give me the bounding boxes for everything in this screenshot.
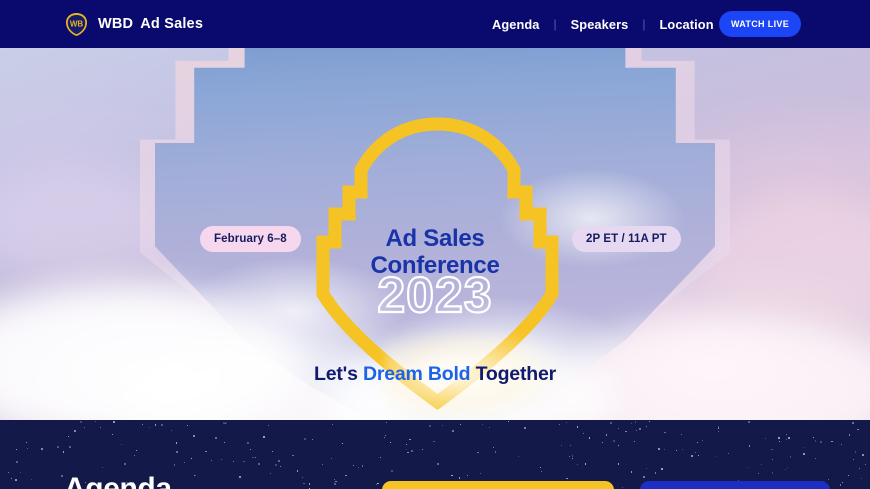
brand-name-wbd: WBD (98, 16, 133, 32)
main-navigation: Agenda | Speakers | Location (478, 0, 728, 48)
hero-tagline: Let's Dream Bold Together (0, 363, 870, 386)
wb-shield-logo-icon: WB (64, 12, 89, 37)
agenda-heading: Agenda (64, 474, 172, 489)
nav-item-agenda[interactable]: Agenda (478, 17, 554, 32)
watch-live-light: LIVE (768, 19, 789, 29)
tagline-after: Together (470, 363, 556, 385)
hero-title-line-1: Ad Sales (0, 226, 870, 253)
watch-live-strong: WATCH (731, 19, 765, 29)
watch-live-button[interactable]: WATCH LIVE (719, 11, 801, 37)
tagline-accent: Dream Bold (363, 363, 470, 385)
svg-text:WB: WB (70, 19, 84, 28)
site-header: WB WBD Ad Sales Agenda | Speakers | Loca… (0, 0, 870, 48)
nav-item-location[interactable]: Location (646, 17, 728, 32)
agenda-primary-button[interactable] (382, 481, 614, 489)
nav-item-speakers[interactable]: Speakers (557, 17, 643, 32)
agenda-secondary-button[interactable] (640, 481, 830, 489)
tagline-before: Let's (314, 363, 363, 385)
brand-logo-group[interactable]: WB WBD Ad Sales (64, 12, 203, 37)
hero-section: February 6–8 2P ET / 11A PT Ad Sales Con… (0, 48, 870, 420)
brand-name-adsales: Ad Sales (140, 16, 203, 32)
hero-year: 2023 (0, 270, 870, 320)
date-badge: February 6–8 (200, 226, 301, 252)
time-badge: 2P ET / 11A PT (572, 226, 681, 252)
